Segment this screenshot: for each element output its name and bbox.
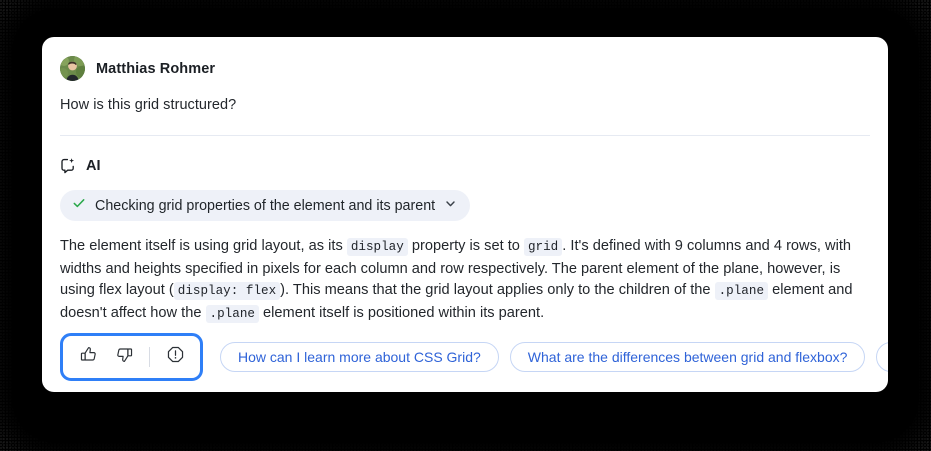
user-name: Matthias Rohmer: [96, 61, 215, 77]
suggestion-chips: How can I learn more about CSS Grid?What…: [220, 342, 888, 372]
status-pill-label: Checking grid properties of the element …: [95, 198, 435, 214]
suggestion-chip[interactable]: How can I learn more about CSS Grid?: [220, 342, 499, 372]
green-check-icon: [72, 196, 86, 215]
inline-code: grid: [524, 238, 562, 256]
ai-label: AI: [86, 158, 101, 174]
inline-code: display: flex: [174, 282, 280, 300]
ai-response-header: AI: [60, 136, 870, 174]
suggestion-chip[interactable]: [876, 342, 888, 372]
user-message-header: Matthias Rohmer: [60, 37, 870, 81]
inline-code: display: [347, 238, 408, 256]
action-row: How can I learn more about CSS Grid?What…: [60, 329, 888, 385]
thumbs-up-icon: [79, 345, 98, 369]
report-button[interactable]: [162, 344, 188, 370]
feedback-divider: [149, 347, 150, 367]
user-avatar-photo: [60, 56, 85, 81]
report-octagon-icon: [166, 345, 185, 369]
chevron-down-icon[interactable]: [444, 197, 457, 215]
status-pill[interactable]: Checking grid properties of the element …: [60, 190, 470, 221]
user-message-text: How is this grid structured?: [60, 81, 870, 113]
conversation-card: Matthias Rohmer How is this grid structu…: [42, 37, 888, 392]
feedback-button-group[interactable]: [60, 333, 203, 381]
thumbs-up-button[interactable]: [75, 344, 101, 370]
ai-sparkle-bubble-icon: [60, 157, 77, 174]
suggestion-chip[interactable]: What are the differences between grid an…: [510, 342, 866, 372]
inline-code: .plane: [206, 305, 259, 323]
ai-answer-text: The element itself is using grid layout,…: [60, 221, 870, 325]
thumbs-down-button[interactable]: [111, 344, 137, 370]
inline-code: .plane: [715, 282, 768, 300]
thumbs-down-icon: [115, 345, 134, 369]
